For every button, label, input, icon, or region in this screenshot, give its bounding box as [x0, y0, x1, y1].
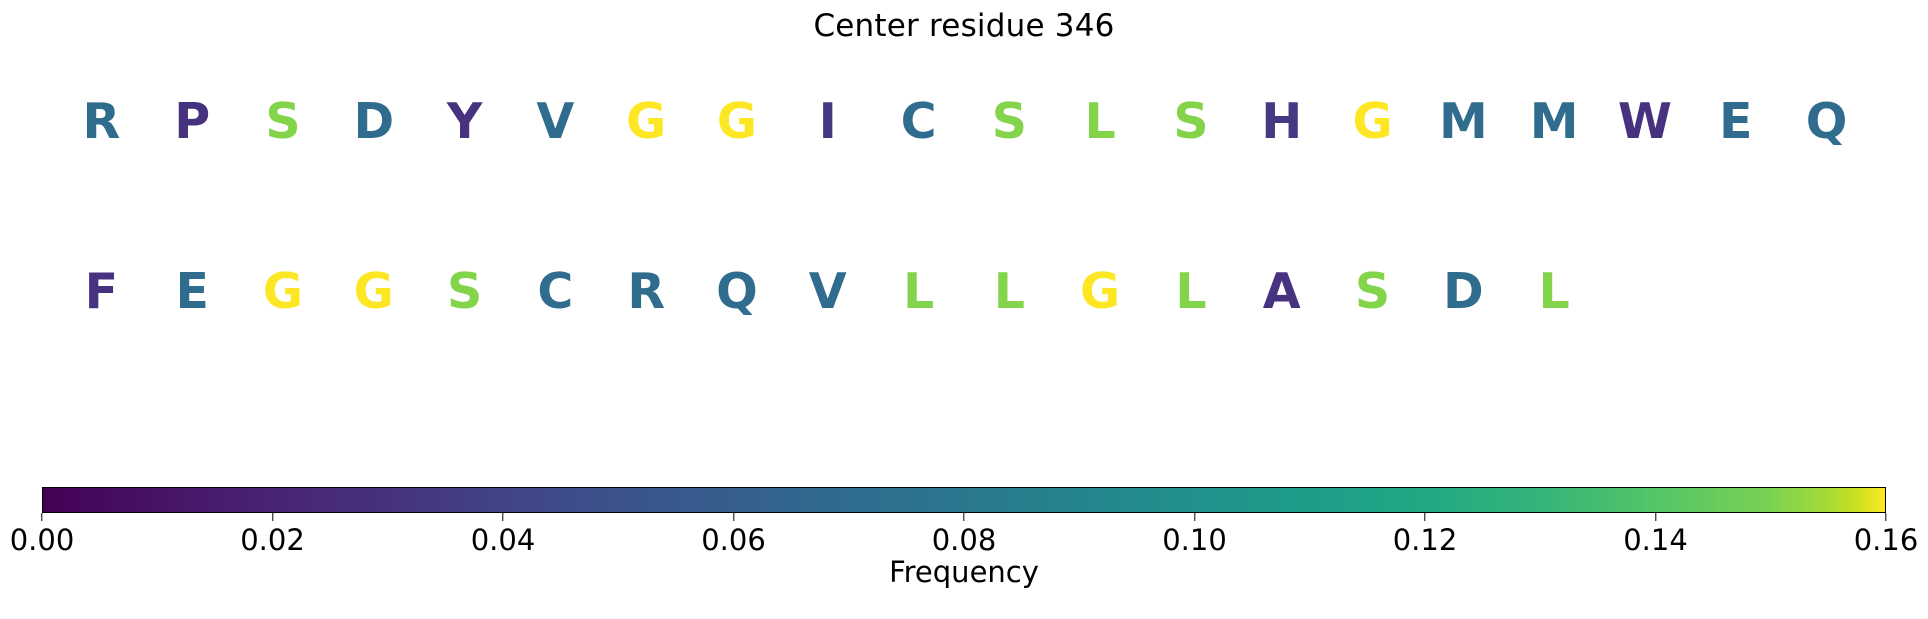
residue-letter: G [1055, 252, 1146, 332]
colorbar-tick-label: 0.04 [471, 523, 536, 557]
colorbar-tick-label: 0.02 [240, 523, 305, 557]
sequence-row-1: FEGGSCRQVLLGLASDL [56, 252, 1872, 332]
colorbar-gradient [42, 487, 1886, 513]
residue-letter: G [328, 252, 419, 332]
residue-letter: G [601, 82, 692, 162]
residue-letter: L [1146, 252, 1237, 332]
residue-letter: A [1236, 252, 1327, 332]
residue-letter: R [601, 252, 692, 332]
residue-letter: S [238, 82, 329, 162]
colorbar-tick [41, 513, 42, 521]
residue-letter: L [1055, 82, 1146, 162]
residue-letter: F [56, 252, 147, 332]
residue-letter: S [419, 252, 510, 332]
colorbar-tick-marks [42, 513, 1886, 522]
colorbar-tick [272, 513, 273, 521]
residue-letter: P [147, 82, 238, 162]
sequence-row-0: RPSDYVGGICSLSHGMMWEQ [56, 82, 1872, 162]
residue-letter: G [692, 82, 783, 162]
colorbar-tick-label: 0.10 [1162, 523, 1227, 557]
colorbar-tick [1194, 513, 1195, 521]
residue-letter: L [964, 252, 1055, 332]
residue-letter: E [147, 252, 238, 332]
residue-letter: H [1236, 82, 1327, 162]
residue-letter: V [510, 82, 601, 162]
residue-letter: D [1418, 252, 1509, 332]
residue-letter: S [1327, 252, 1418, 332]
residue-letter: G [1327, 82, 1418, 162]
colorbar-tick-label: 0.00 [10, 523, 75, 557]
colorbar-tick-label: 0.12 [1393, 523, 1458, 557]
colorbar-tick-labels: 0.000.020.040.060.080.100.120.140.16 [42, 523, 1886, 557]
residue-letter: Y [419, 82, 510, 162]
residue-letter: L [873, 252, 964, 332]
residue-letter: D [328, 82, 419, 162]
residue-letter: S [964, 82, 1055, 162]
residue-letter: L [1509, 252, 1600, 332]
residue-letter: C [873, 82, 964, 162]
colorbar: 0.000.020.040.060.080.100.120.140.16 [42, 487, 1886, 513]
page-title: Center residue 346 [0, 8, 1928, 44]
residue-letter: Q [1781, 82, 1872, 162]
residue-letter: Q [692, 252, 783, 332]
residue-letter: I [782, 82, 873, 162]
residue-letter: V [782, 252, 873, 332]
colorbar-tick-label: 0.08 [932, 523, 997, 557]
residue-letter: M [1509, 82, 1600, 162]
colorbar-tick-label: 0.16 [1854, 523, 1919, 557]
residue-letter: R [56, 82, 147, 162]
figure-canvas: Center residue 346 RPSDYVGGICSLSHGMMWEQ … [0, 0, 1928, 619]
colorbar-tick [502, 513, 503, 521]
residue-letter: M [1418, 82, 1509, 162]
residue-letter: G [238, 252, 329, 332]
colorbar-tick [1655, 513, 1656, 521]
colorbar-tick [733, 513, 734, 521]
colorbar-tick [1424, 513, 1425, 521]
colorbar-tick-label: 0.14 [1623, 523, 1688, 557]
colorbar-tick [963, 513, 964, 521]
colorbar-tick-label: 0.06 [701, 523, 766, 557]
colorbar-axis-label: Frequency [0, 555, 1928, 589]
colorbar-tick [1885, 513, 1886, 521]
residue-letter: W [1600, 82, 1691, 162]
residue-letter: E [1690, 82, 1781, 162]
residue-letter: C [510, 252, 601, 332]
residue-letter: S [1146, 82, 1237, 162]
